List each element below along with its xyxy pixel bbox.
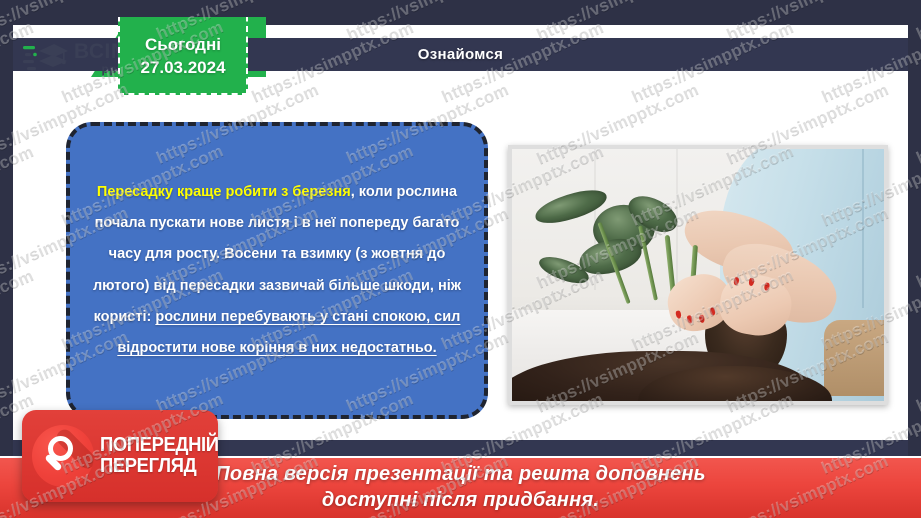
slide-preview-stage: Ознайомся ВСІМ pptx	[0, 0, 921, 518]
preview-badge-text: ПОПЕРЕДНІЙ ПЕРЕГЛЯД	[100, 435, 229, 477]
preview-badge[interactable]: ПОПЕРЕДНІЙ ПЕРЕГЛЯД	[22, 410, 218, 502]
presentation-slide: Ознайомся ВСІМ pptx	[13, 17, 908, 477]
page-title: Ознайомся	[418, 46, 503, 63]
promo-line-2: доступні після придбання.	[322, 488, 599, 514]
preview-badge-line-1: ПОПЕРЕДНІЙ	[100, 435, 219, 456]
illustration-photo	[512, 149, 884, 401]
content-segment-underline: рослини перебувають у стані спокою, сил …	[117, 309, 460, 356]
magnifier-icon	[32, 425, 94, 487]
date-badge-label: Сьогодні	[145, 36, 221, 55]
content-segment-normal: , коли рослина почала пускати нове листя…	[93, 184, 461, 325]
date-badge-value: 27.03.2024	[140, 59, 225, 78]
promo-line-1: Повна версія презентації та решта доповн…	[215, 462, 705, 488]
preview-badge-line-2: ПЕРЕГЛЯД	[100, 456, 219, 477]
brand-logo: ВСІМ pptx	[23, 41, 129, 75]
content-segment-highlight: Пересадку краще робити з березня	[97, 184, 351, 200]
today-date-badge: Сьогодні 27.03.2024	[118, 17, 248, 95]
content-paragraph: Пересадку краще робити з березня, коли р…	[92, 177, 462, 364]
illustration-photo-frame	[508, 145, 888, 405]
content-text-box: Пересадку краще робити з березня, коли р…	[66, 122, 488, 419]
person-apron	[824, 320, 884, 396]
graduation-cap-icon	[23, 41, 69, 75]
